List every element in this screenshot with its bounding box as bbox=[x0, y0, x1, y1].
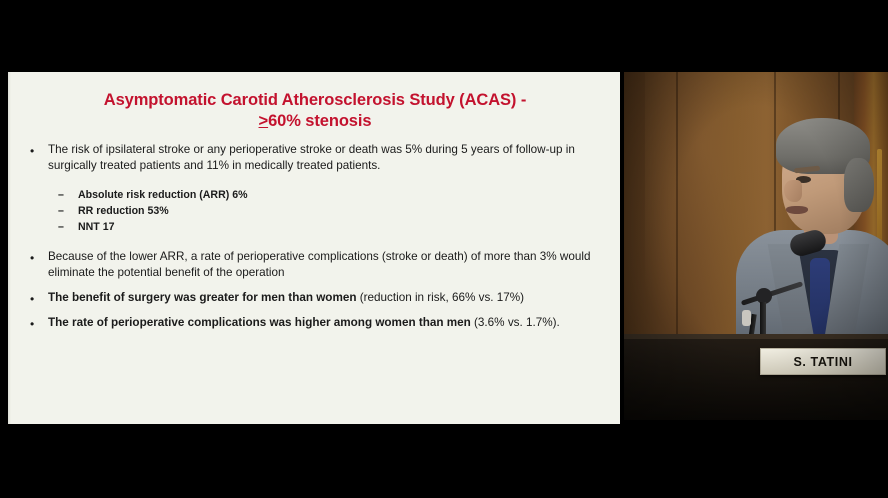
bullet-marker: • bbox=[30, 250, 34, 267]
slide-title-line-2-rest: 60% stenosis bbox=[268, 112, 371, 130]
bullet-text-detail: (reduction in risk, 66% vs. 17%) bbox=[356, 291, 524, 304]
letterbox-band-bottom bbox=[0, 424, 888, 498]
sub-bullet-arr: – Absolute risk reduction (ARR) 6% bbox=[58, 187, 604, 203]
sub-bullet-marker: – bbox=[58, 187, 64, 203]
speaker-nameplate: S. TATINI bbox=[760, 348, 886, 375]
letterbox-band-top bbox=[0, 0, 888, 72]
sub-bullet-marker: – bbox=[58, 203, 64, 219]
slide-title-line-1: Asymptomatic Carotid Atherosclerosis Stu… bbox=[104, 91, 526, 109]
bullet-text-bold: The benefit of surgery was greater for m… bbox=[48, 291, 356, 304]
bullet-text-bold: The rate of perioperative complications … bbox=[48, 316, 471, 329]
bullet-text: The risk of ipsilateral stroke or any pe… bbox=[48, 143, 575, 172]
speaker-nose bbox=[784, 180, 802, 202]
speaker-hair-side bbox=[844, 158, 874, 212]
bullet-marker: • bbox=[30, 316, 34, 333]
speaker-nameplate-text: S. TATINI bbox=[793, 355, 852, 369]
sub-bullet-text: NNT 17 bbox=[78, 221, 115, 233]
video-player-stage: Asymptomatic Carotid Atherosclerosis Stu… bbox=[0, 0, 888, 498]
sub-bullet-marker: – bbox=[58, 219, 64, 235]
speaker-figure bbox=[734, 112, 888, 362]
sub-bullet-text: RR reduction 53% bbox=[78, 205, 169, 217]
slide-title-line-2: >60% stenosis bbox=[32, 111, 598, 132]
slide-bullet-list: • The risk of ipsilateral stroke or any … bbox=[26, 142, 604, 331]
podium-top-edge bbox=[624, 334, 888, 339]
bullet-marker: • bbox=[30, 291, 34, 308]
bullet-text-detail: (3.6% vs. 1.7%). bbox=[471, 316, 560, 329]
microphone-clip bbox=[742, 310, 751, 326]
sub-bullet-rr: – RR reduction 53% bbox=[58, 203, 604, 219]
bullet-text: Because of the lower ARR, a rate of peri… bbox=[48, 250, 590, 279]
bullet-item-lower-arr: • Because of the lower ARR, a rate of pe… bbox=[26, 249, 604, 281]
greater-than-or-equal-symbol: > bbox=[259, 112, 269, 130]
podium: S. TATINI bbox=[624, 334, 888, 420]
bullet-item-benefit-men: • The benefit of surgery was greater for… bbox=[26, 290, 604, 306]
speaker-video-feed[interactable]: S. TATINI bbox=[624, 72, 888, 420]
sub-bullet-list: – Absolute risk reduction (ARR) 6% – RR … bbox=[26, 187, 604, 235]
slide-title: Asymptomatic Carotid Atherosclerosis Stu… bbox=[26, 90, 604, 132]
sub-bullet-group: – Absolute risk reduction (ARR) 6% – RR … bbox=[26, 187, 604, 235]
bullet-item-risk: • The risk of ipsilateral stroke or any … bbox=[26, 142, 604, 174]
bullet-marker: • bbox=[30, 143, 34, 160]
sub-bullet-text: Absolute risk reduction (ARR) 6% bbox=[78, 189, 248, 201]
sub-bullet-nnt: – NNT 17 bbox=[58, 219, 604, 235]
bullet-item-complications-women: • The rate of perioperative complication… bbox=[26, 315, 604, 331]
speaker-mouth bbox=[786, 206, 808, 214]
presentation-slide: Asymptomatic Carotid Atherosclerosis Stu… bbox=[8, 72, 620, 424]
